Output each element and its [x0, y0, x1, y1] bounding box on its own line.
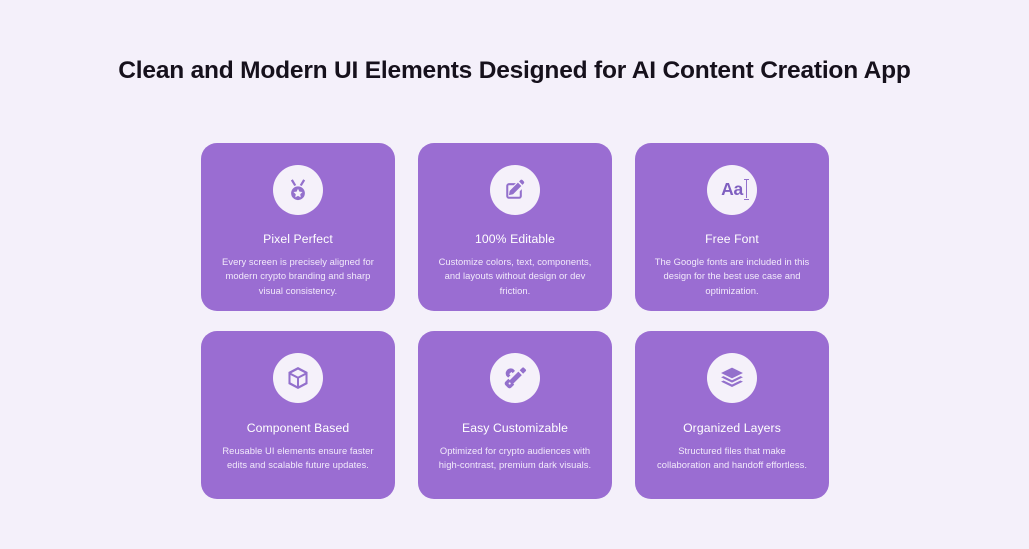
card-title: Component Based [247, 421, 349, 437]
card-description: The Google fonts are included in this de… [650, 255, 814, 299]
feature-card-editable[interactable]: 100% Editable Customize colors, text, co… [418, 143, 612, 311]
feature-card-free-font[interactable]: Aa Free Font The Google fonts are includ… [635, 143, 829, 311]
feature-card-grid: Pixel Perfect Every screen is precisely … [201, 143, 829, 499]
feature-card-easy-customizable[interactable]: Easy Customizable Optimized for crypto a… [418, 331, 612, 499]
cube-icon [273, 353, 323, 403]
edit-square-icon [490, 165, 540, 215]
feature-card-component-based[interactable]: Component Based Reusable UI elements ens… [201, 331, 395, 499]
aa-glyph-label: Aa [721, 181, 743, 199]
card-title: Organized Layers [683, 421, 781, 437]
text-cursor-aa-icon: Aa [707, 165, 757, 215]
page-title: Clean and Modern UI Elements Designed fo… [0, 56, 1029, 87]
feature-grid-page: Clean and Modern UI Elements Designed fo… [0, 0, 1029, 549]
feature-card-organized-layers[interactable]: Organized Layers Structured files that m… [635, 331, 829, 499]
card-title: Free Font [705, 232, 759, 248]
card-title: Easy Customizable [462, 421, 568, 437]
layers-stack-icon [707, 353, 757, 403]
feature-card-pixel-perfect[interactable]: Pixel Perfect Every screen is precisely … [201, 143, 395, 311]
medal-star-icon [273, 165, 323, 215]
card-title: 100% Editable [475, 232, 555, 248]
card-description: Structured files that make collaboration… [650, 444, 814, 473]
card-description: Every screen is precisely aligned for mo… [216, 255, 380, 299]
card-description: Customize colors, text, components, and … [433, 255, 597, 299]
wrench-pencil-icon [490, 353, 540, 403]
card-title: Pixel Perfect [263, 232, 333, 248]
card-description: Optimized for crypto audiences with high… [433, 444, 597, 473]
card-description: Reusable UI elements ensure faster edits… [216, 444, 380, 473]
